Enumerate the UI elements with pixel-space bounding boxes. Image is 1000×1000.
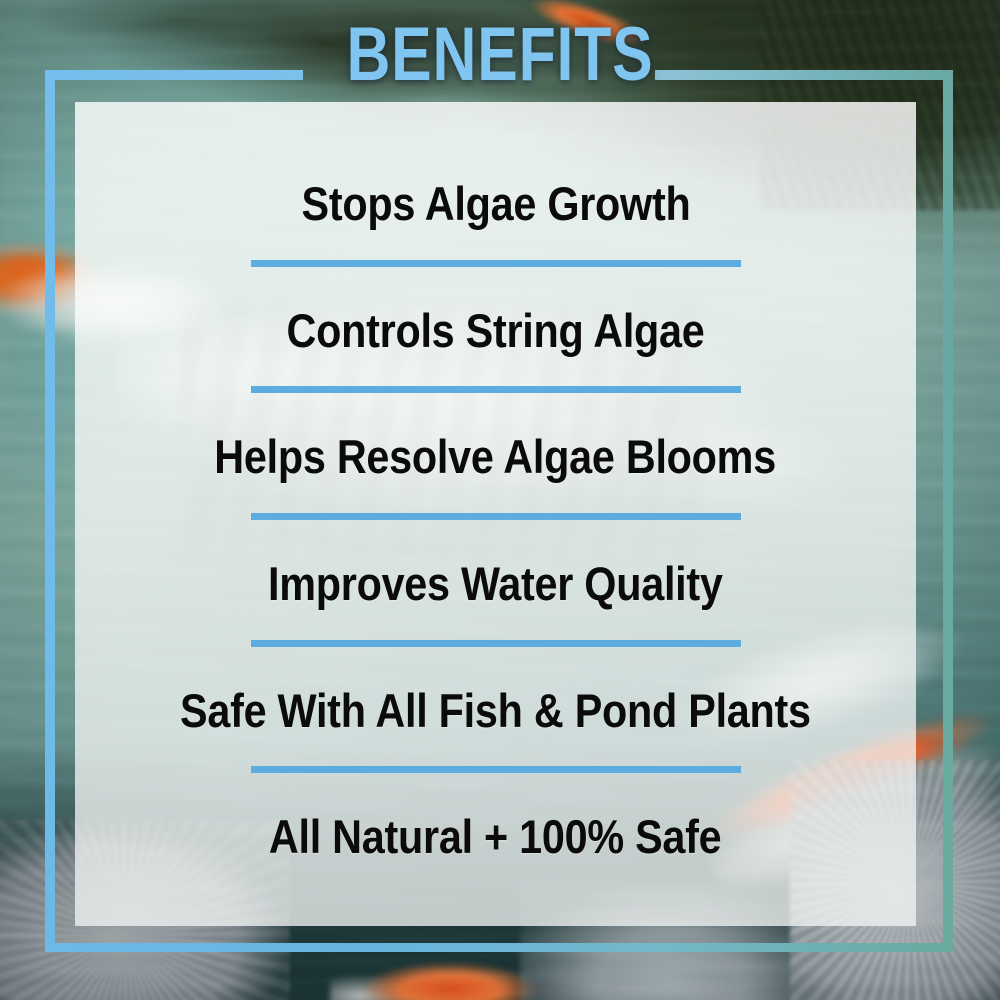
- benefit-label-1: Stops Algae Growth: [301, 176, 690, 231]
- list-item: Safe With All Fish & Pond Plants: [75, 647, 916, 774]
- benefit-divider-5: [251, 766, 741, 773]
- list-item: All Natural + 100% Safe: [75, 773, 916, 900]
- list-item: Helps Resolve Algae Blooms: [75, 393, 916, 520]
- benefit-divider-4: [251, 640, 741, 647]
- list-item: Controls String Algae: [75, 267, 916, 394]
- product-benefits-poster: BENEFITS Stops Algae Growth Controls Str…: [0, 0, 1000, 1000]
- benefit-divider-1: [251, 260, 741, 267]
- benefit-label-3: Helps Resolve Algae Blooms: [215, 429, 777, 484]
- benefit-label-5: Safe With All Fish & Pond Plants: [180, 683, 811, 738]
- benefit-label-4: Improves Water Quality: [268, 556, 723, 611]
- page-title: BENEFITS: [100, 17, 900, 93]
- list-item: Stops Algae Growth: [75, 140, 916, 267]
- benefit-divider-3: [251, 513, 741, 520]
- benefit-label-2: Controls String Algae: [286, 303, 704, 358]
- benefits-list: Stops Algae Growth Controls String Algae…: [75, 140, 916, 900]
- list-item: Improves Water Quality: [75, 520, 916, 647]
- benefit-divider-2: [251, 386, 741, 393]
- benefit-label-6: All Natural + 100% Safe: [269, 809, 722, 864]
